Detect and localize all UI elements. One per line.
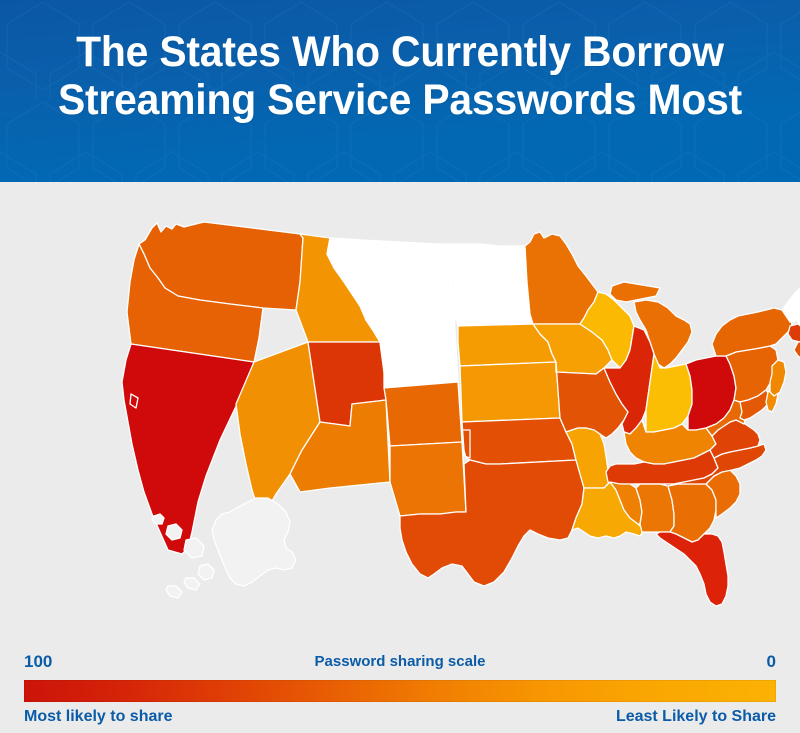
state-KS[interactable]: Kansas — 38 — [460, 362, 560, 422]
legend-max-value: 100 — [24, 652, 52, 672]
state-FL[interactable]: Florida — 94 — [656, 532, 728, 606]
state-SD[interactable]: South Dakota — [454, 282, 533, 326]
legend-gradient-bar — [24, 680, 776, 702]
state-MN[interactable]: Minnesota — 57 — [525, 232, 598, 324]
us-choropleth-map: Washington — 66 Oregon — 65 Idaho — 40 C… — [0, 182, 800, 640]
state-NM[interactable]: New Mexico — 56 — [390, 442, 466, 516]
state-OK[interactable]: Oklahoma — 76 — [462, 418, 576, 464]
map-container: Washington — 66 Oregon — 65 Idaho — 40 C… — [0, 182, 800, 640]
header-banner: The States Who Currently Borrow Streamin… — [0, 0, 800, 182]
legend-min-value: 0 — [767, 652, 776, 672]
legend-top-labels: 100 Password sharing scale 0 — [24, 652, 776, 674]
state-IN[interactable]: Indiana — 16 — [646, 354, 692, 432]
state-NJ[interactable]: New Jersey — 46 — [770, 360, 786, 396]
legend-most-likely-label: Most likely to share — [24, 708, 173, 726]
legend-bottom-labels: Most likely to share Least Likely to Sha… — [24, 708, 776, 732]
legend-panel: 100 Password sharing scale 0 Most likely… — [0, 640, 800, 733]
legend-scale-title: Password sharing scale — [315, 653, 486, 670]
state-MA[interactable]: Massachusetts — 85 — [788, 324, 800, 344]
state-CT[interactable]: Connecticut — 72 — [794, 342, 800, 360]
state-ND[interactable]: North Dakota — [450, 244, 527, 284]
state-NY[interactable]: New York — 63 — [712, 308, 792, 356]
state-CO[interactable]: Colorado — 62 — [384, 382, 462, 446]
legend-least-likely-label: Least Likely to Share — [616, 708, 776, 726]
page-title: The States Who Currently Borrow Streamin… — [20, 28, 780, 124]
state-AL[interactable]: Alabama — 55 — [636, 484, 674, 532]
